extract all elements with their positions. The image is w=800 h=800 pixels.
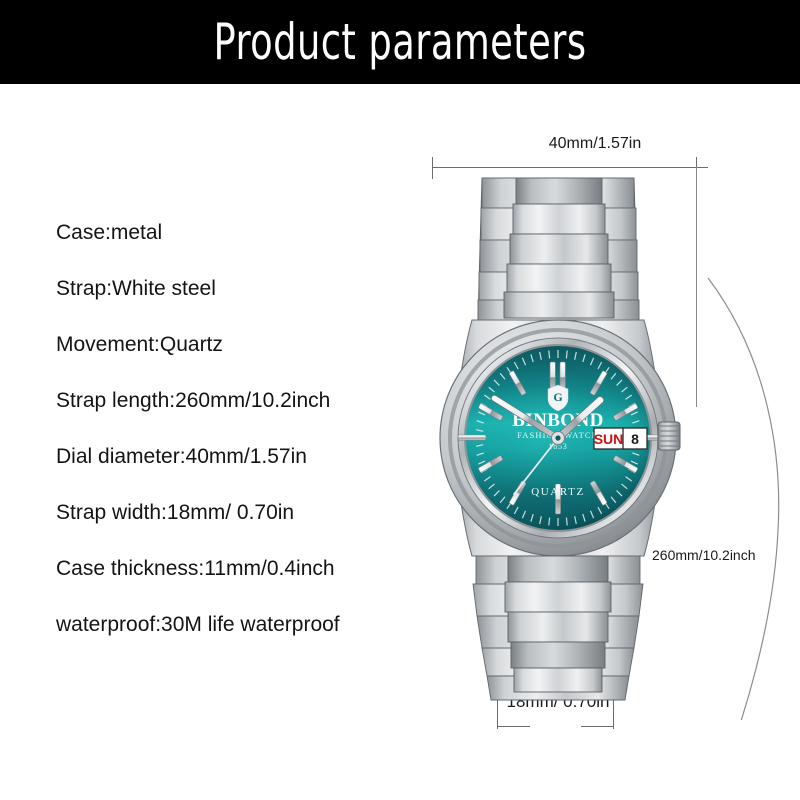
watch-svg: G BINBOND FASHION WATCH 1853 QUARTZ SUN … <box>420 170 720 710</box>
bracelet-upper <box>478 178 639 326</box>
watch-crown <box>658 422 680 450</box>
date-text: 8 <box>631 431 639 447</box>
dimension-line-bottom-left <box>497 726 530 727</box>
spec-item-waterproof: waterproof:30M life waterproof <box>56 614 466 635</box>
dimension-label-width: 40mm/1.57in <box>505 135 685 153</box>
spec-item-strap-length: Strap length:260mm/10.2inch <box>56 390 466 411</box>
spec-list: Case:metal Strap:White steel Movement:Qu… <box>56 222 466 670</box>
day-date-window: SUN 8 <box>594 428 647 449</box>
spec-item-case: Case:metal <box>56 222 466 243</box>
spec-item-strap: Strap:White steel <box>56 278 466 299</box>
page-title: Product parameters <box>72 0 728 84</box>
svg-text:G: G <box>553 390 562 404</box>
dimension-line-bottom-right <box>581 726 614 727</box>
watch-diagram: 40mm/1.57in 260mm/10.2inch 18mm/ 0.70in <box>420 110 800 750</box>
header-banner: Product parameters <box>0 0 800 84</box>
day-text: SUN <box>594 431 624 447</box>
bracelet-lower <box>473 556 643 700</box>
wristwatch-image: G BINBOND FASHION WATCH 1853 QUARTZ SUN … <box>420 170 720 710</box>
product-parameters-page: Product parameters Case:metal Strap:Whit… <box>0 0 800 800</box>
dial-movement-text: QUARTZ <box>531 486 585 498</box>
dimension-line-top <box>432 167 708 168</box>
spec-item-movement: Movement:Quartz <box>56 334 466 355</box>
spec-item-strap-width: Strap width:18mm/ 0.70in <box>56 502 466 523</box>
spec-item-dial-diameter: Dial diameter:40mm/1.57in <box>56 446 466 467</box>
spec-item-case-thickness: Case thickness:11mm/0.4inch <box>56 558 466 579</box>
